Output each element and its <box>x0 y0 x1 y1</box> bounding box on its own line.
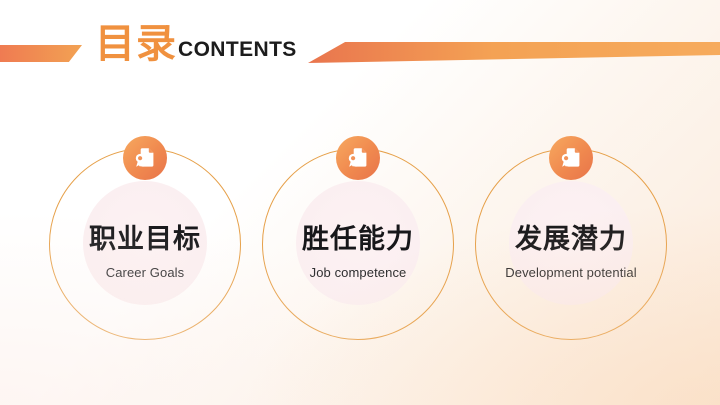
contents-item-title-cn: 发展潜力 <box>471 224 671 256</box>
contents-list: 职业目标 Career Goals 胜任能力 Job competence <box>0 136 720 366</box>
certificate-document-icon <box>549 136 593 180</box>
contents-item-title-en: Development potential <box>471 264 671 282</box>
contents-item-title-cn: 职业目标 <box>45 224 245 256</box>
page-title-cn: 目录 <box>95 22 177 66</box>
contents-item-title-en: Career Goals <box>45 264 245 282</box>
right-accent-bar <box>308 42 720 63</box>
left-accent-bar <box>0 45 82 62</box>
certificate-document-icon <box>336 136 380 180</box>
page-title-en: CONTENTS <box>178 38 297 62</box>
certificate-document-icon <box>123 136 167 180</box>
contents-item-3[interactable]: 发展潜力 Development potential <box>471 136 671 366</box>
contents-item-1[interactable]: 职业目标 Career Goals <box>45 136 245 366</box>
contents-item-title-cn: 胜任能力 <box>258 224 458 256</box>
contents-item-2[interactable]: 胜任能力 Job competence <box>258 136 458 366</box>
page-title: 目录 CONTENTS <box>95 22 297 66</box>
slide-header: 目录 CONTENTS <box>0 0 720 100</box>
slide-canvas: 目录 CONTENTS 职业目标 Career Goals <box>0 0 720 405</box>
contents-item-title-en: Job competence <box>258 264 458 282</box>
